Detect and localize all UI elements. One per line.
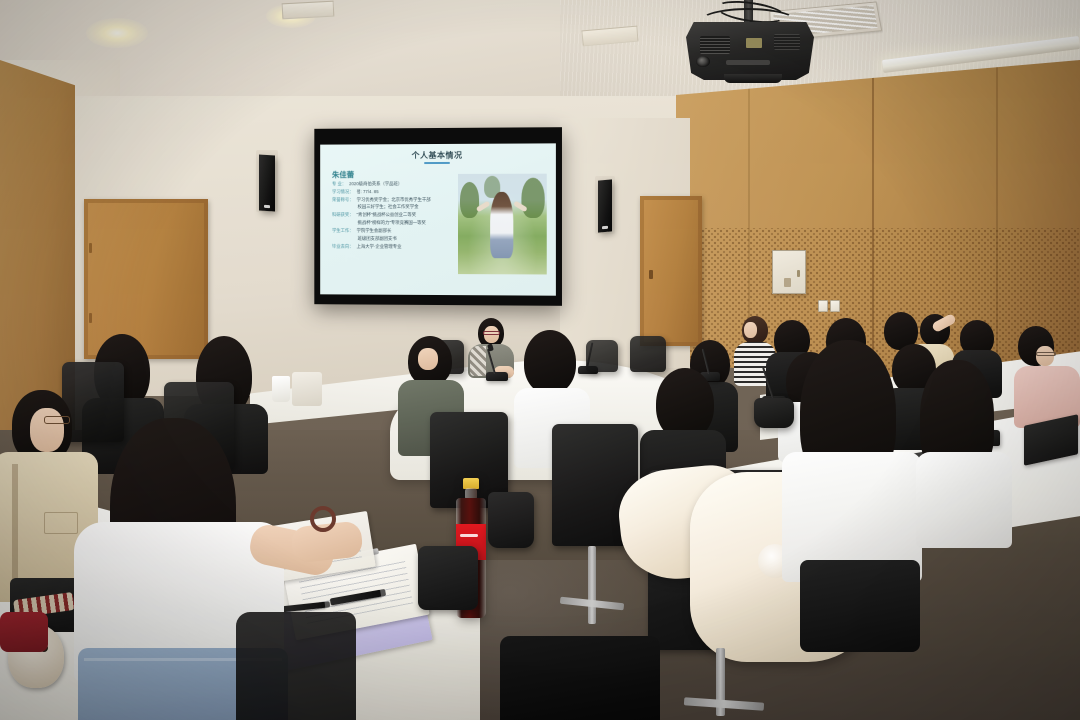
attendee-face-beige-jacket [30,408,64,452]
tissue-box-left [292,372,322,406]
presenter-glasses [483,331,500,335]
projector-bottom-plate [724,74,782,83]
light-switch-left[interactable] [818,300,828,312]
cup-left [272,376,290,402]
slide-row-value: 学习优秀奖学金；北京市优秀学生干部 [357,198,431,203]
slide-row-value: 挑战杯“榜样的力”专项竞赛国一等奖 [358,221,426,226]
attendee-face-back-7 [1036,346,1054,366]
slide-row-value: 学院学生会副部长 [357,229,392,234]
bracelet [310,506,336,532]
black-bag-right [754,398,794,428]
slide-content: 个人基本情况 朱佳蕾 专 业：2020级商伯英系（学品班） 学习情况：평: 77… [320,143,556,295]
downlight-1 [86,18,148,48]
ceiling-light-housing-1 [282,1,335,20]
chair-front-right[interactable] [630,336,666,372]
wall-access-panel [772,250,806,294]
slide-row-label: 专 业： [332,182,346,187]
slide-row-label: 学生工作： [332,229,354,234]
attendee-face-back-1 [744,322,757,338]
slide-row-label: 科研获奖： [332,213,354,218]
slide-portrait-photo [458,174,547,275]
slide-row-label: 学习情况： [332,190,354,195]
slide-row-value: 班级团支部副团支书 [358,237,397,242]
slide-row-value: 校园三好学生；社会工作奖学金 [358,205,419,210]
slide-student-name: 朱佳蕾 [332,169,354,180]
slide-info-rows: 专 业：2020级商伯英系（学品班） 学习情况：평: 77/4. 85 荣誉称号… [332,182,459,252]
attendee-face-center-2 [418,348,438,370]
slide-row-value: 2020级商伯英系（学品班） [349,182,402,187]
slide-row-value: 上海大学·企业管理专业 [357,244,402,249]
chair-foreground-left-silhouette [236,612,356,720]
door-back-right[interactable] [640,196,702,346]
attendee-glasses-right [1036,352,1056,356]
slide-row-value: “青创杯”挑战杯公益创业二等奖 [357,213,416,218]
presenter-scarf [470,346,486,376]
black-bag-2 [418,546,478,610]
attendee-glasses-left [44,416,70,424]
slide-title: 个人基本情况 [320,149,556,161]
conference-room-photo: 个人基本情况 朱佳蕾 专 业：2020级商伯英系（学品班） 学习情况：평: 77… [0,0,1080,720]
red-pouch [0,612,48,652]
wall-speaker-right [598,179,612,232]
slide-row-label: 毕业去向： [332,244,354,249]
ceiling-projector [686,22,814,80]
slide-row-value: 평: 77/4. 85 [357,190,379,195]
jacket-pocket [44,512,78,534]
chair-leg-mid-center [588,546,596,624]
chair-front-right-2[interactable] [586,340,618,372]
door-left[interactable] [84,199,208,359]
attendee-torso-foreground-right-2 [916,452,1012,548]
jacket-placket [12,464,18,584]
microphone-base-presenter[interactable] [486,372,508,381]
chair-bottom-center [500,636,660,720]
attendee-head-center-1 [524,330,576,394]
slide-row-label: 荣誉称号： [332,198,354,203]
light-switch-right[interactable] [830,300,840,312]
projection-screen: 个人基本情况 朱佳蕾 专 业：2020级商伯英系（学品班） 学习情况：평: 77… [314,127,562,306]
attendee-lap-foreground-right [800,560,920,652]
black-bag-1 [488,492,534,548]
slide-title-underline [424,162,450,164]
wall-speaker-left [259,154,275,211]
